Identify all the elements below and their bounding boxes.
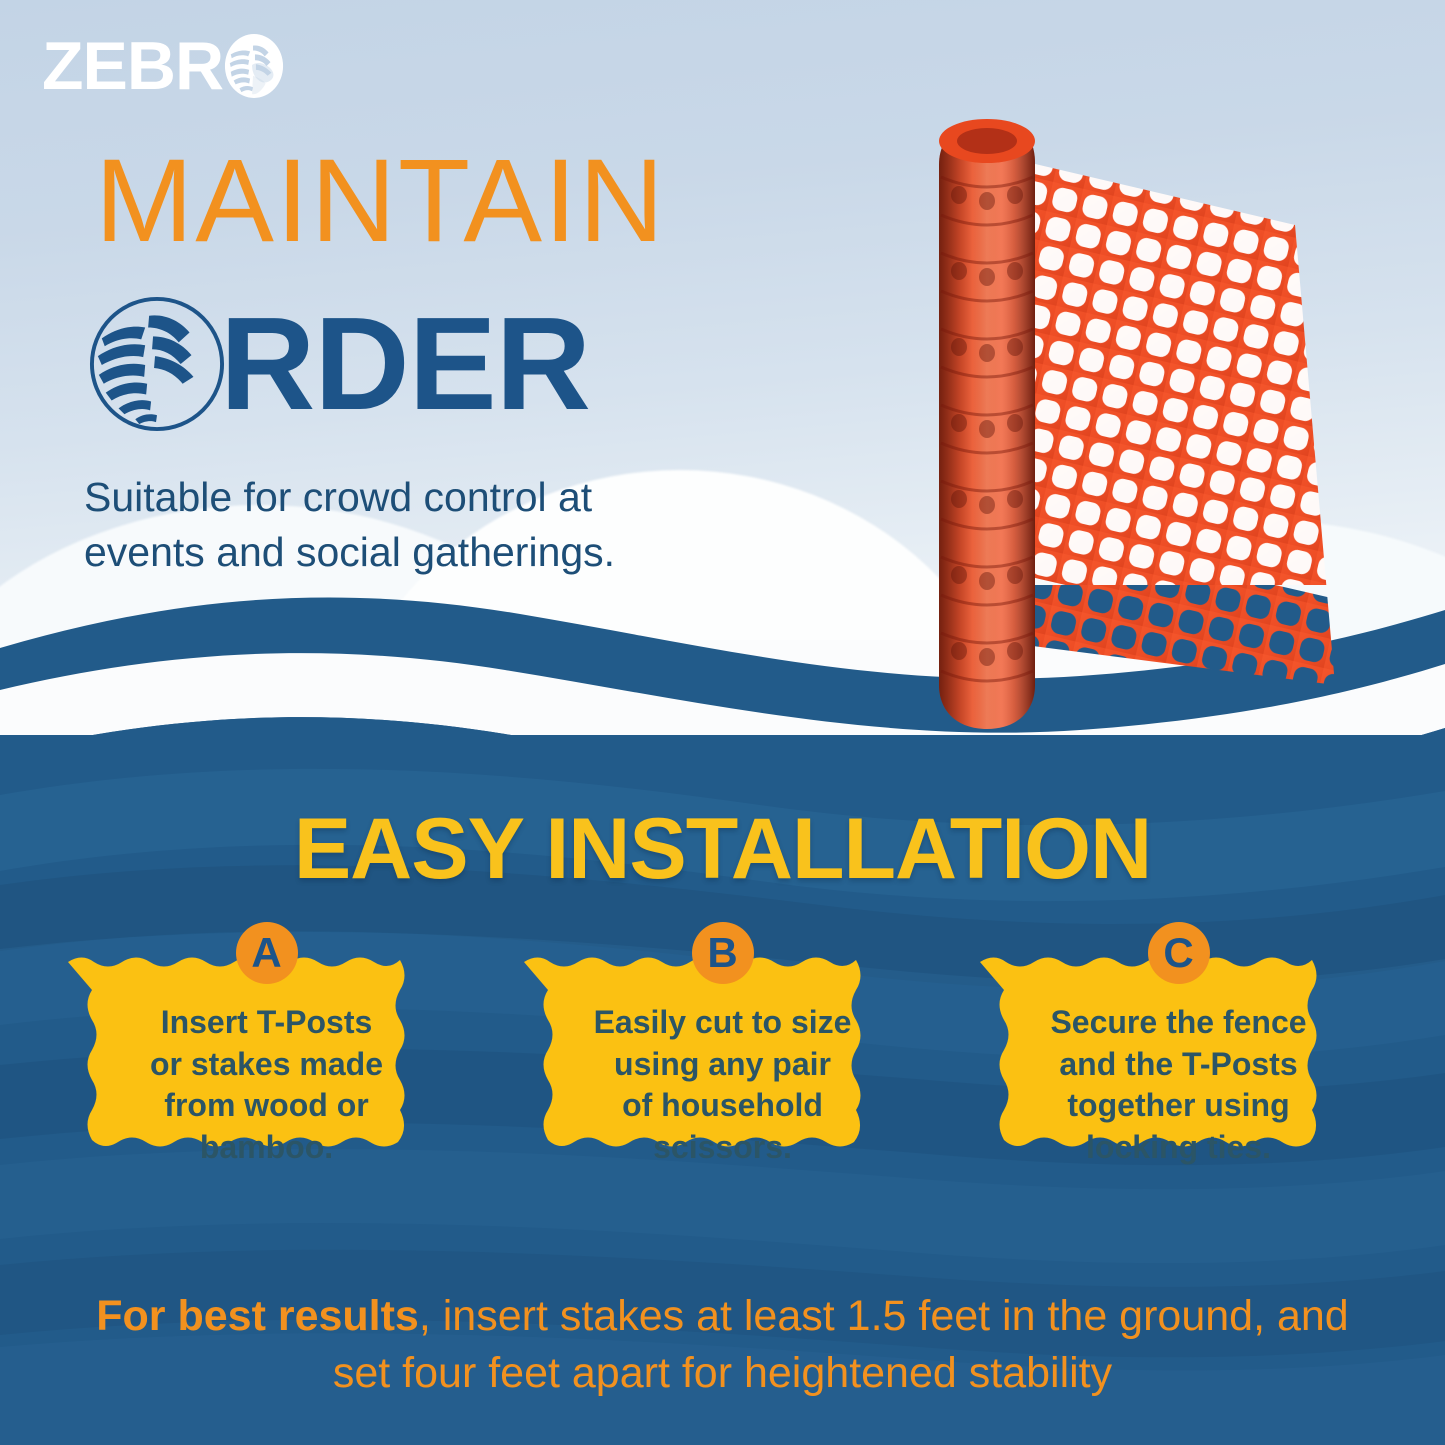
step-card-c: C Secure the fence and the T-Posts toget… [974, 950, 1384, 1220]
subtitle-text: Suitable for crowd control at events and… [84, 470, 615, 580]
footer-note-rest: , insert stakes at least 1.5 feet in the… [333, 1292, 1349, 1397]
headline-order-text: RDER [220, 298, 590, 430]
step-card-a: A Insert T-Posts or stakes made from woo… [62, 950, 472, 1220]
step-card-b: B Easily cut to size using any pair of h… [518, 950, 928, 1220]
brand-logo-text: ZEBR [42, 32, 223, 100]
zebra-head-oval-icon [223, 33, 285, 99]
product-image-mesh-fence [735, 85, 1335, 765]
headline-order-row: RDER [88, 295, 590, 433]
installation-steps: A Insert T-Posts or stakes made from woo… [0, 950, 1445, 1250]
brand-logo: ZEBR [42, 32, 285, 100]
step-badge-a: A [236, 922, 298, 984]
step-text-c: Secure the fence and the T-Posts togethe… [1000, 1002, 1358, 1168]
step-badge-b: B [692, 922, 754, 984]
section-heading-easy-installation: EASY INSTALLATION [0, 800, 1445, 899]
step-text-a: Insert T-Posts or stakes made from wood … [88, 1002, 446, 1168]
zebra-head-circle-icon [88, 295, 226, 433]
footer-note: For best results, insert stakes at least… [70, 1288, 1375, 1402]
step-badge-c: C [1148, 922, 1210, 984]
product-infographic: ZEBR MAINTAIN [0, 0, 1445, 1445]
headline-maintain: MAINTAIN [95, 142, 666, 260]
step-text-b: Easily cut to size using any pair of hou… [544, 1002, 902, 1168]
footer-note-bold: For best results [96, 1292, 419, 1340]
